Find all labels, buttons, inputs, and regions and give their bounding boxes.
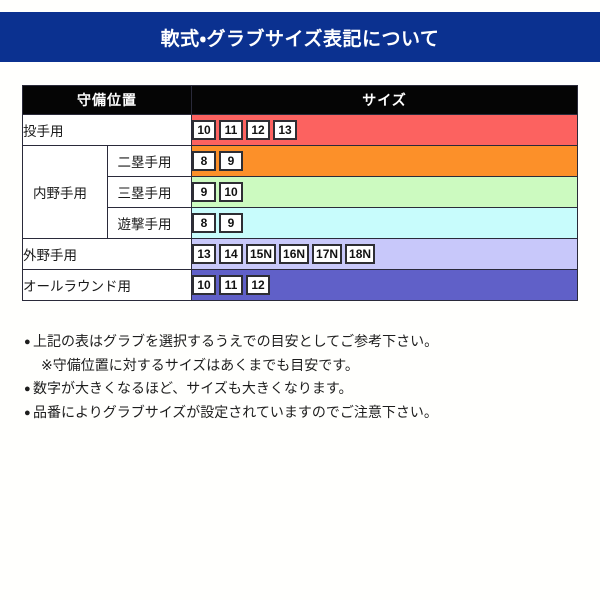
table-row: 内野手用 二塁手用 89 xyxy=(23,146,578,177)
position-label-outfield: 外野手用 xyxy=(23,239,192,270)
page-banner: 軟式・グラブサイズ表記について xyxy=(0,12,600,62)
page-title: 軟式・グラブサイズ表記について xyxy=(161,24,440,51)
size-cell-shortstop: 89 xyxy=(192,208,578,239)
note-line: ●上記の表はグラブを選択するうえでの目安としてご参考下さい。 xyxy=(24,330,576,354)
bullet-icon: ● xyxy=(24,331,33,354)
size-badge: 11 xyxy=(219,275,243,295)
size-badge: 12 xyxy=(246,275,270,295)
notes-block: ●上記の表はグラブを選択するうえでの目安としてご参考下さい。 ※守備位置に対する… xyxy=(24,330,576,425)
size-badge: 9 xyxy=(192,182,216,202)
table-body: 投手用 10111213 内野手用 二塁手用 89 三塁手用 910 xyxy=(23,115,578,301)
size-cell-second-base: 89 xyxy=(192,146,578,177)
size-badge: 11 xyxy=(219,120,243,140)
note-text: 上記の表はグラブを選択するうえでの目安としてご参考下さい。 xyxy=(33,333,438,349)
position-label-shortstop: 遊撃手用 xyxy=(107,208,192,239)
size-badge: 8 xyxy=(192,213,216,233)
position-label-infield-group: 内野手用 xyxy=(23,146,108,239)
size-badge: 16N xyxy=(279,244,309,264)
size-badge: 13 xyxy=(192,244,216,264)
size-badge: 10 xyxy=(219,182,243,202)
table-row: 外野手用 131415N16N17N18N xyxy=(23,239,578,270)
note-line: ●品番によりグラブサイズが設定されていますのでご注意下さい。 xyxy=(24,401,576,425)
size-cell-allround: 101112 xyxy=(192,270,578,301)
note-text: 品番によりグラブサイズが設定されていますのでご注意下さい。 xyxy=(33,404,438,420)
size-badge: 12 xyxy=(246,120,270,140)
size-badge: 13 xyxy=(273,120,297,140)
size-badge: 15N xyxy=(246,244,276,264)
size-badge: 18N xyxy=(345,244,375,264)
size-badge: 9 xyxy=(219,213,243,233)
table-head: 守備位置 サイズ xyxy=(23,86,578,115)
position-label-second-base: 二塁手用 xyxy=(107,146,192,177)
size-cell-third-base: 910 xyxy=(192,177,578,208)
size-badge: 9 xyxy=(219,151,243,171)
position-label-allround: オールラウンド用 xyxy=(23,270,192,301)
size-badge: 8 xyxy=(192,151,216,171)
table-row: 投手用 10111213 xyxy=(23,115,578,146)
note-line: ※守備位置に対するサイズはあくまでも目安です。 xyxy=(24,354,576,377)
size-badge: 10 xyxy=(192,120,216,140)
table-row: オールラウンド用 101112 xyxy=(23,270,578,301)
note-text: ※守備位置に対するサイズはあくまでも目安です。 xyxy=(41,357,359,373)
header-position: 守備位置 xyxy=(23,86,192,115)
bullet-icon: ● xyxy=(24,402,33,425)
position-label-pitcher: 投手用 xyxy=(23,115,192,146)
position-label-third-base: 三塁手用 xyxy=(107,177,192,208)
size-cell-pitcher: 10111213 xyxy=(192,115,578,146)
header-size: サイズ xyxy=(192,86,578,115)
size-badge: 14 xyxy=(219,244,243,264)
bullet-icon: ● xyxy=(24,378,33,401)
note-text: 数字が大きくなるほど、サイズも大きくなります。 xyxy=(33,380,352,396)
size-badge: 17N xyxy=(312,244,342,264)
glove-size-table: 守備位置 サイズ 投手用 10111213 内野手用 二塁手用 89 xyxy=(22,85,578,301)
note-line: ●数字が大きくなるほど、サイズも大きくなります。 xyxy=(24,377,576,401)
table-header-row: 守備位置 サイズ xyxy=(23,86,578,115)
size-cell-outfield: 131415N16N17N18N xyxy=(192,239,578,270)
page-root: 軟式・グラブサイズ表記について 守備位置 サイズ 投手用 10111213 内野… xyxy=(0,0,600,600)
size-badge: 10 xyxy=(192,275,216,295)
